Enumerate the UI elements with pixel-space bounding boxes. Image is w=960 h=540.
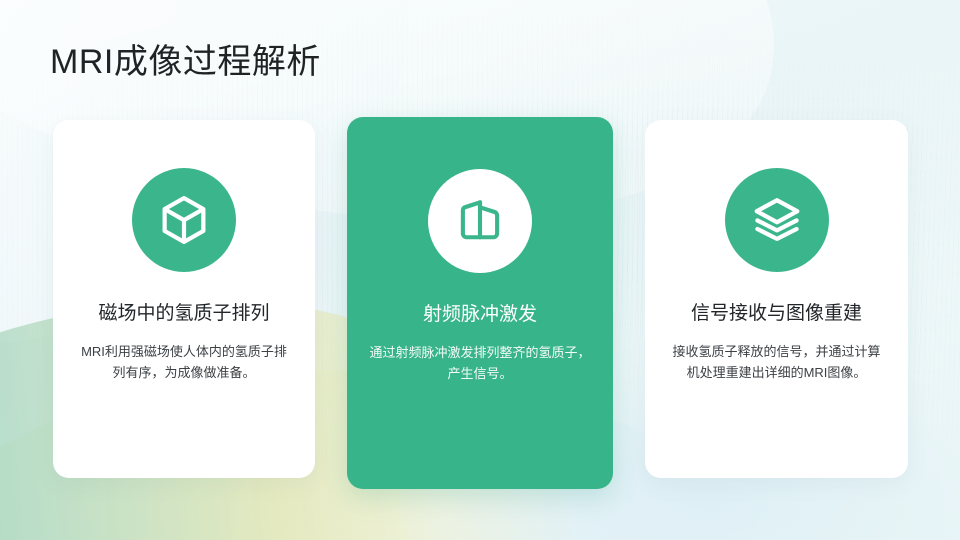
card-description-2: 通过射频脉冲激发排列整齐的氢质子，产生信号。 bbox=[347, 342, 613, 385]
card-title-2: 射频脉冲激发 bbox=[423, 303, 537, 328]
layers-stack-icon bbox=[750, 193, 804, 247]
buildings-icon bbox=[454, 195, 506, 247]
card-description-1: MRI利用强磁场使人体内的氢质子排列有序，为成像做准备。 bbox=[53, 341, 315, 384]
cube-3d-icon bbox=[156, 192, 212, 248]
process-card-2[interactable]: 射频脉冲激发 通过射频脉冲激发排列整齐的氢质子，产生信号。 bbox=[347, 117, 613, 489]
process-card-3[interactable]: 信号接收与图像重建 接收氢质子释放的信号，并通过计算机处理重建出详细的MRI图像… bbox=[645, 120, 908, 478]
icon-badge-1 bbox=[132, 168, 236, 272]
card-title-1: 磁场中的氢质子排列 bbox=[98, 302, 269, 327]
card-group: 磁场中的氢质子排列 MRI利用强磁场使人体内的氢质子排列有序，为成像做准备。 射… bbox=[0, 0, 960, 540]
icon-badge-2 bbox=[428, 169, 532, 273]
icon-badge-3 bbox=[725, 168, 829, 272]
card-title-3: 信号接收与图像重建 bbox=[691, 302, 862, 327]
process-card-1[interactable]: 磁场中的氢质子排列 MRI利用强磁场使人体内的氢质子排列有序，为成像做准备。 bbox=[53, 120, 315, 478]
slide-canvas: MRI成像过程解析 磁场中的氢质子排列 MRI利用强磁场使人体内的氢质子排列有序… bbox=[0, 0, 960, 540]
card-description-3: 接收氢质子释放的信号，并通过计算机处理重建出详细的MRI图像。 bbox=[645, 341, 908, 384]
